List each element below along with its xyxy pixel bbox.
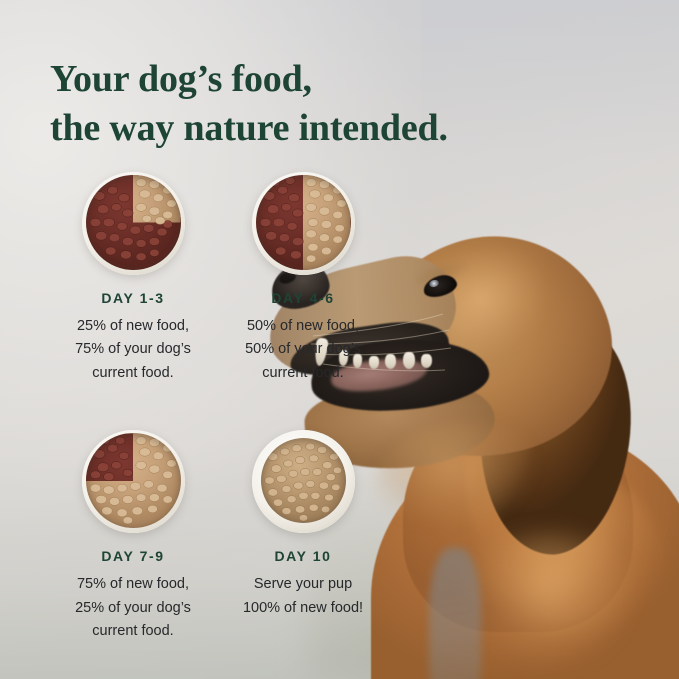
- step-row-top: DAY 1-3 25% of new food, 75% of your dog…: [48, 172, 388, 385]
- kibble-texture: [261, 438, 346, 523]
- step-description-4: Serve your pup 100% of new food!: [218, 573, 388, 620]
- bowl-day-7-9: [82, 430, 185, 533]
- headline-line-2: the way nature intended.: [50, 104, 570, 153]
- desc-line: 50% of your dog’s: [218, 338, 388, 361]
- step-description-2: 50% of new food, 50% of your dog’s curre…: [218, 315, 388, 385]
- bowl-food-day-1-3: [86, 175, 181, 270]
- bowl-day-10: [252, 430, 355, 533]
- bowl-food-day-4-6: [256, 175, 351, 270]
- bowl-day-1-3: [82, 172, 185, 275]
- desc-line: 25% of new food,: [48, 315, 218, 338]
- desc-line: current food.: [218, 362, 388, 385]
- desc-line: current food.: [48, 362, 218, 385]
- day-label-4: DAY 10: [274, 548, 331, 564]
- desc-line: current food.: [48, 620, 218, 643]
- step-day-4-6: DAY 4-6 50% of new food, 50% of your dog…: [218, 172, 388, 385]
- desc-line: 25% of your dog’s: [48, 597, 218, 620]
- desc-line: Serve your pup: [218, 573, 388, 596]
- day-label-1: DAY 1-3: [101, 290, 164, 306]
- bowl-food-day-10: [261, 438, 346, 523]
- bowl-day-4-6: [252, 172, 355, 275]
- step-description-1: 25% of new food, 75% of your dog’s curre…: [48, 315, 218, 385]
- step-day-10: DAY 10 Serve your pup 100% of new food!: [218, 430, 388, 643]
- step-day-7-9: DAY 7-9 75% of new food, 25% of your dog…: [48, 430, 218, 643]
- ad-graphic: Your dog’s food, the way nature intended…: [0, 0, 679, 679]
- page-title: Your dog’s food, the way nature intended…: [50, 55, 570, 152]
- transition-steps: DAY 1-3 25% of new food, 75% of your dog…: [48, 172, 388, 644]
- kibble-texture: [256, 175, 351, 270]
- desc-line: 75% of new food,: [48, 573, 218, 596]
- day-label-2: DAY 4-6: [271, 290, 334, 306]
- desc-line: 100% of new food!: [218, 597, 388, 620]
- day-label-3: DAY 7-9: [101, 548, 164, 564]
- step-day-1-3: DAY 1-3 25% of new food, 75% of your dog…: [48, 172, 218, 385]
- step-description-3: 75% of new food, 25% of your dog’s curre…: [48, 573, 218, 643]
- step-row-bottom: DAY 7-9 75% of new food, 25% of your dog…: [48, 430, 388, 643]
- headline-line-1: Your dog’s food,: [50, 55, 570, 104]
- desc-line: 75% of your dog’s: [48, 338, 218, 361]
- kibble-texture: [86, 175, 181, 270]
- bowl-food-day-7-9: [86, 433, 181, 528]
- kibble-texture: [86, 433, 181, 528]
- desc-line: 50% of new food,: [218, 315, 388, 338]
